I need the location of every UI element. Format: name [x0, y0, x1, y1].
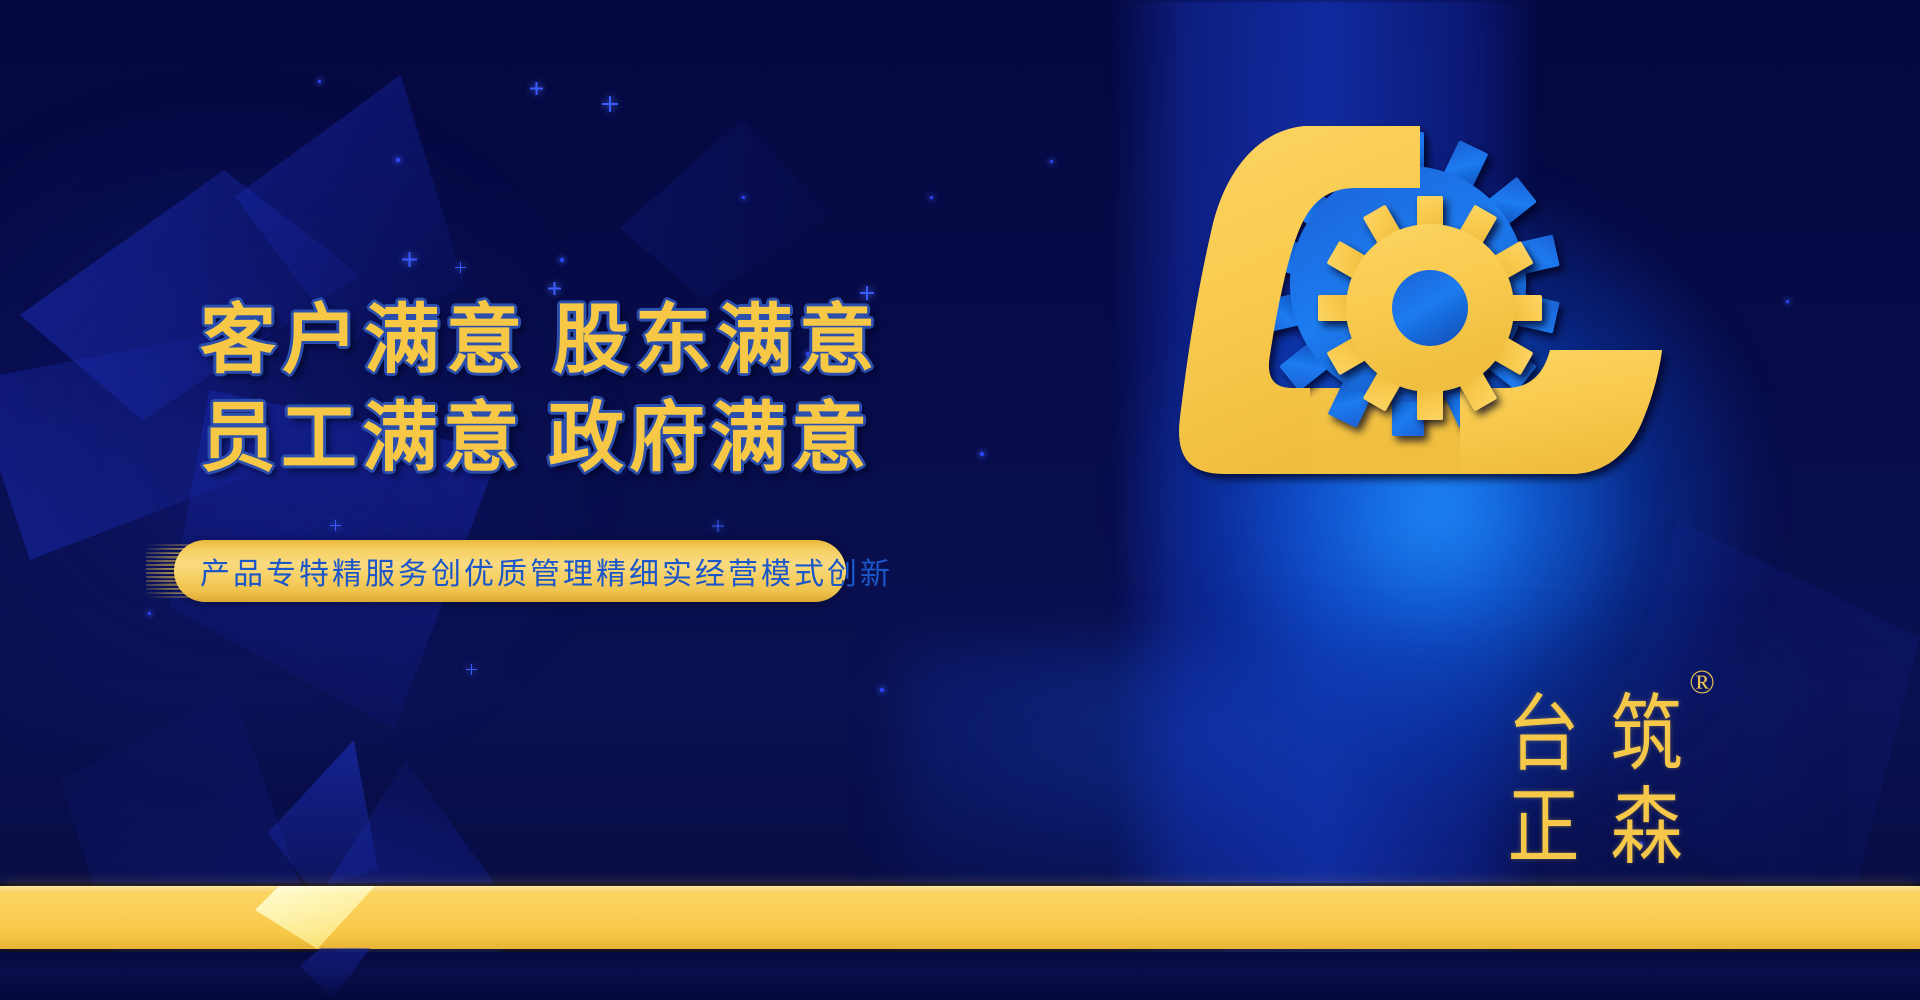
- wordmark-char-2: 筑: [1605, 690, 1688, 783]
- sparkle-particle: [712, 520, 724, 532]
- sparkle-particle: [560, 258, 564, 262]
- sparkle-particle: [148, 612, 151, 615]
- wordmark-char-1: 台: [1502, 690, 1585, 783]
- headline-line-2: 员工满意 政府满意: [200, 390, 960, 488]
- pill-text-row: 产品专特精 服务创优质 管理精细实 经营模式创新: [174, 540, 846, 602]
- banner-canvas: 客户满意 股东满意 员工满意 政府满意 产品专特精 服务创优质 管理精细实 经营…: [0, 0, 1920, 1000]
- sparkle-particle: [330, 520, 341, 531]
- pill-segment-4: 经营模式创新: [695, 549, 893, 593]
- headline-block: 客户满意 股东满意 员工满意 政府满意: [200, 292, 960, 488]
- headline-line-1: 客户满意 股东满意: [200, 292, 960, 390]
- sparkle-particle: [742, 196, 745, 199]
- slogan-pill-banner: 产品专特精 服务创优质 管理精细实 经营模式创新: [146, 540, 846, 602]
- sparkle-particle: [402, 252, 417, 267]
- wordmark-char-4: 森: [1605, 783, 1688, 876]
- sparkle-particle: [980, 452, 984, 456]
- sparkle-particle: [880, 688, 884, 692]
- sparkle-particle: [1050, 160, 1053, 163]
- logo-gear-hub: [1392, 270, 1468, 346]
- sparkle-particle: [930, 196, 933, 199]
- registered-trademark-icon: ®: [1689, 666, 1715, 700]
- pill-segment-2: 服务创优质: [365, 549, 530, 593]
- sparkle-particle: [530, 82, 543, 95]
- wordmark-char-3: 正: [1502, 783, 1585, 876]
- sparkle-particle: [396, 158, 400, 162]
- company-wordmark: 台 筑 正 森 ®: [1495, 690, 1695, 875]
- gear-swoosh-logo: [1130, 88, 1700, 478]
- pill-body: 产品专特精 服务创优质 管理精细实 经营模式创新: [174, 540, 846, 602]
- sparkle-particle: [455, 262, 466, 273]
- sparkle-particle: [466, 664, 477, 675]
- pill-segment-3: 管理精细实: [530, 549, 695, 593]
- sparkle-particle: [1786, 300, 1789, 303]
- bottom-strip: [0, 952, 1920, 1000]
- sparkle-particle: [318, 80, 321, 83]
- pill-segment-1: 产品专特精: [200, 549, 365, 593]
- sparkle-particle: [602, 96, 618, 112]
